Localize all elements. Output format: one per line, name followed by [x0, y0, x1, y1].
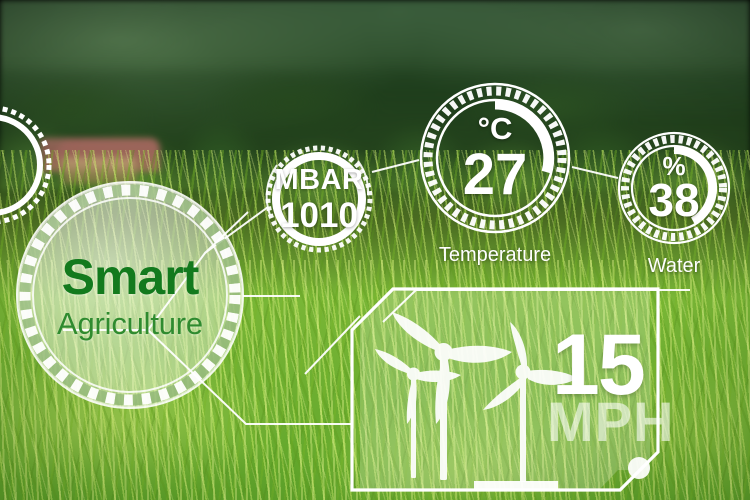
wind-speed-unit: MPH	[547, 394, 674, 450]
gauge-pressure-unit: MBAR	[275, 166, 364, 195]
gauge-temperature-readout: °C 27	[419, 82, 571, 234]
gauge-water-value: 38	[648, 177, 699, 223]
wind-panel-bottom-bar	[474, 481, 558, 489]
gauge-pressure-readout: MBAR 1010	[266, 146, 372, 252]
hub-subtitle: Agriculture	[57, 308, 203, 339]
gauge-temperature-value: 27	[463, 146, 528, 204]
wind-panel-corner-dot	[628, 457, 650, 479]
gauge-water-label: Water	[648, 255, 701, 278]
hub-label-group: Smart Agriculture	[18, 183, 242, 407]
gauge-temperature-unit: °C	[478, 113, 513, 144]
gauge-water-readout: % 38	[619, 133, 729, 243]
hub-title: Smart	[62, 252, 199, 302]
hud-overlay: Smart Agriculture MBAR 1010 °C 27 Temper…	[0, 0, 750, 500]
dashboard-stage: Smart Agriculture MBAR 1010 °C 27 Temper…	[0, 0, 750, 500]
gauge-temperature-label: Temperature	[439, 244, 551, 267]
gauge-pressure-value: 1010	[280, 198, 358, 233]
